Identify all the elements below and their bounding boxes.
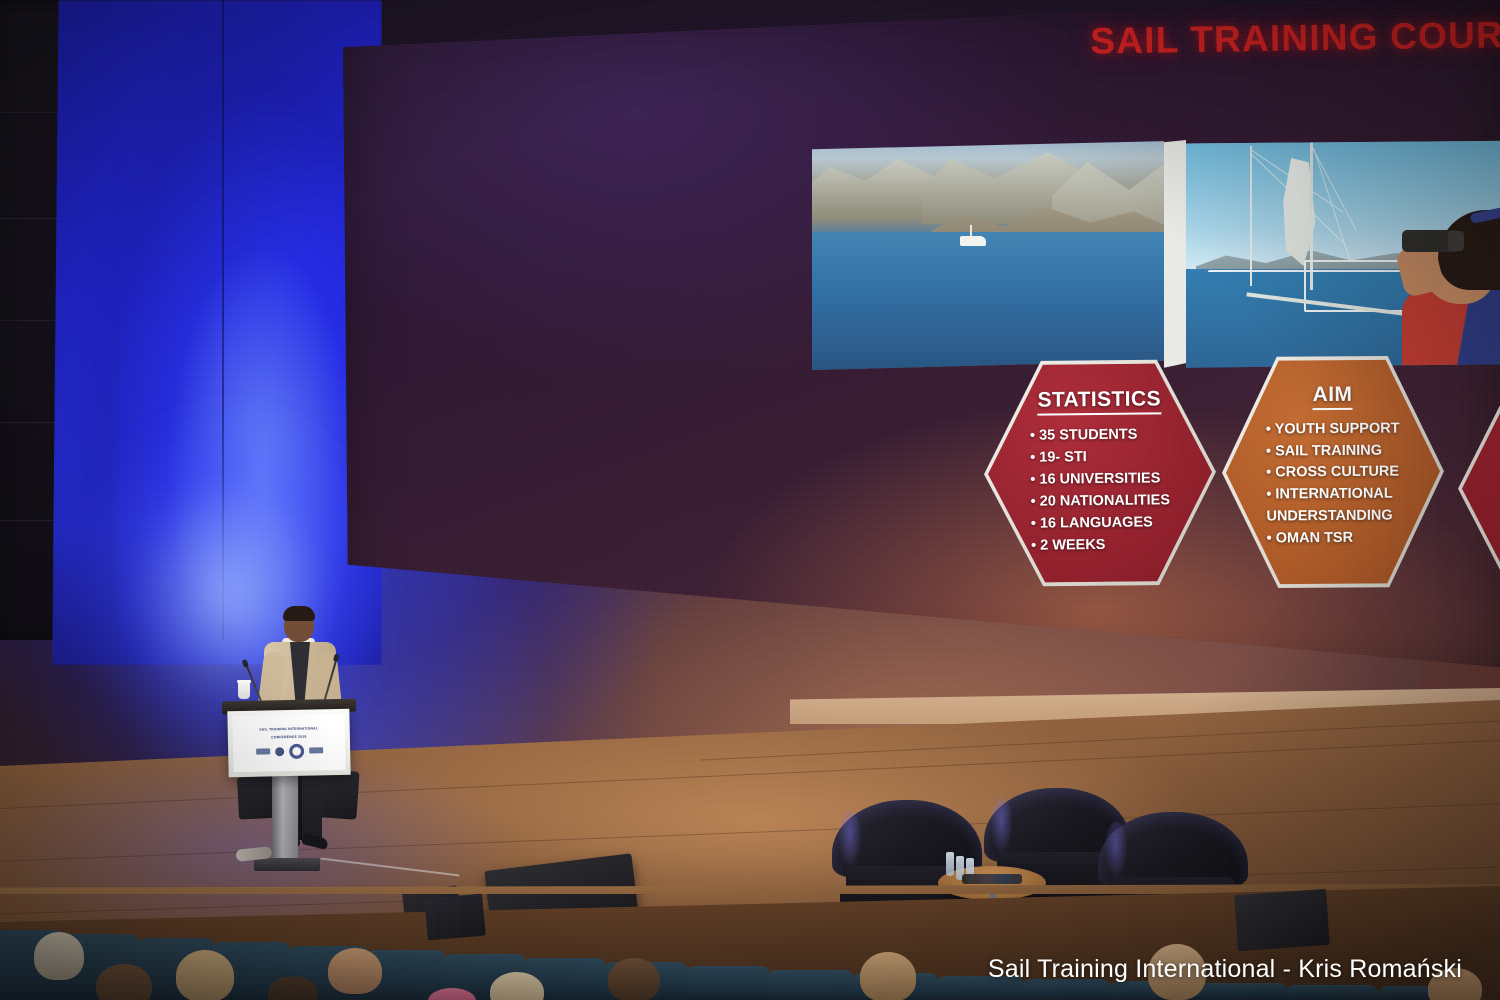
- list-item: 19- STI: [1030, 445, 1170, 468]
- binoculars: [1402, 230, 1460, 252]
- water-bottle: [946, 852, 954, 876]
- hexagon-heading-aim: AIM: [1313, 383, 1353, 410]
- audience-member-head: [34, 932, 84, 980]
- conference-photograph: HLM 25-2S SAIL TRAINING COURSE: [0, 0, 1500, 1000]
- podium: SAIL TRAINING INTERNATIONAL CONFERENCE 2…: [227, 709, 350, 778]
- sponsor-logo-icon: [309, 747, 323, 753]
- list-item: YOUTH SUPPORT: [1266, 418, 1400, 441]
- podium-column: [272, 776, 298, 862]
- coffee-cup: [238, 682, 250, 699]
- list-item: SAIL TRAINING: [1266, 440, 1400, 463]
- list-item: 16 LANGUAGES: [1031, 512, 1171, 535]
- slide-photo-trainee-with-binoculars: [1186, 140, 1500, 370]
- hexagon-list-aim: YOUTH SUPPORT SAIL TRAINING CROSS CULTUR…: [1266, 418, 1401, 549]
- trainee-group: [820, 258, 1150, 370]
- list-item: 2 WEEKS: [1031, 534, 1171, 557]
- photo-divider-left: [1164, 140, 1186, 370]
- list-item: INTERNATIONAL: [1266, 484, 1400, 507]
- sponsor-logo-icon: [256, 749, 270, 755]
- list-item: 16 UNIVERSITIES: [1030, 467, 1170, 490]
- slide-photo-group-photo-fjord: [812, 140, 1164, 370]
- trainee-looking-through-binoculars: [1396, 204, 1500, 370]
- slide-hexagon-aim: AIM YOUTH SUPPORT SAIL TRAINING CROSS CU…: [1221, 353, 1445, 591]
- podium-sign-line-1: SAIL TRAINING INTERNATIONAL: [259, 727, 318, 733]
- hexagon-list-statistics: 35 STUDENTS 19- STI 16 UNIVERSITIES 20 N…: [1030, 423, 1171, 557]
- audience-member-head: [328, 948, 382, 994]
- audience-member-head: [96, 964, 152, 1000]
- list-item: CROSS CULTURE: [1266, 462, 1400, 485]
- audience-member-head: [860, 952, 916, 1000]
- podium-conference-sign: SAIL TRAINING INTERNATIONAL CONFERENCE 2…: [232, 714, 345, 772]
- photo-credit-watermark: Sail Training International - Kris Romań…: [988, 955, 1462, 984]
- conference-emblem-icon: [289, 743, 304, 758]
- items-on-table: [962, 874, 1022, 884]
- slide-photo-strip: HLM 25-2S: [812, 140, 1500, 370]
- list-item: 20 NATIONALITIES: [1030, 490, 1170, 513]
- podium-sign-logos: [256, 743, 323, 759]
- slide-hexagon-remarks: REMARKS EXPERIENCE LANGUAGE WIND! HOME S…: [1457, 363, 1500, 612]
- podium-base: [254, 858, 320, 871]
- list-item: OMAN TSR: [1267, 527, 1401, 550]
- list-item: 35 STUDENTS: [1030, 423, 1170, 446]
- podium-sign-line-2: CONFERENCE 2019: [271, 734, 306, 740]
- shoe: [301, 833, 329, 850]
- audience-member-head: [608, 958, 660, 1000]
- list-item: UNDERSTANDING: [1266, 505, 1400, 528]
- slide-title: SAIL TRAINING COURSE: [1033, 12, 1500, 63]
- audience-seating: [0, 906, 1500, 1000]
- slide-hexagon-statistics: STATISTICS 35 STUDENTS 19- STI 16 UNIVER…: [983, 357, 1217, 589]
- sponsor-logo-icon: [275, 747, 284, 756]
- audience-member-head: [176, 950, 234, 1000]
- tall-ship-at-anchor: [960, 236, 986, 246]
- hexagon-heading-statistics: STATISTICS: [1037, 388, 1161, 416]
